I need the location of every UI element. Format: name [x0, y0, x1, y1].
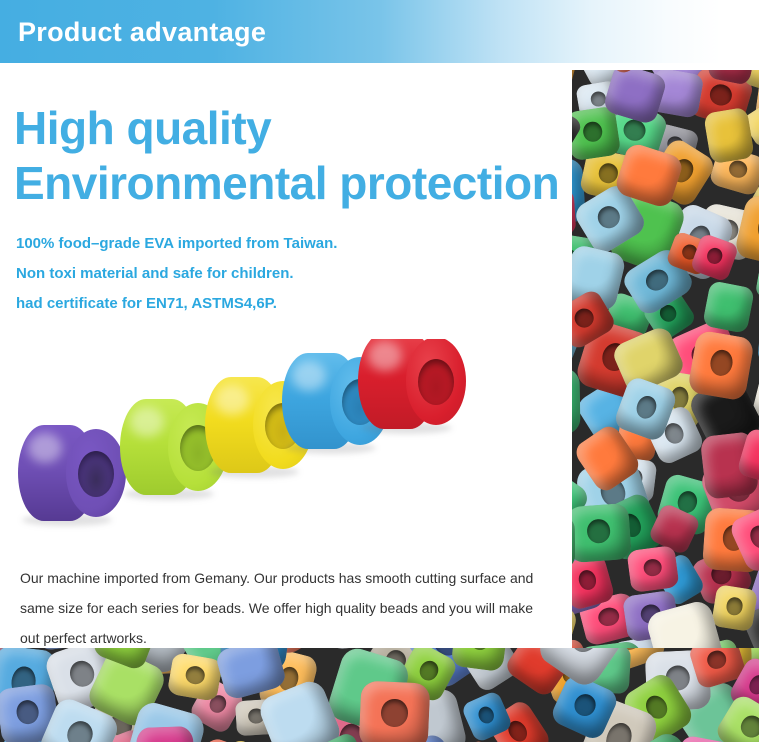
bead-gloss	[130, 407, 164, 437]
bead	[626, 545, 679, 593]
bead	[167, 652, 224, 702]
bead	[703, 107, 755, 165]
content-panel: High quality Environmental protection 10…	[0, 63, 572, 648]
feature-item: Non toxi material and safe for children.	[16, 259, 337, 289]
feature-item: 100% food–grade EVA imported from Taiwan…	[16, 229, 337, 259]
feature-list: 100% food–grade EVA imported from Taiwan…	[16, 229, 337, 319]
page-title: Product advantage	[18, 17, 266, 48]
description-paragraph: Our machine imported from Gemany. Our pr…	[20, 563, 550, 653]
bead-row-photo	[0, 339, 520, 539]
bead-gloss	[292, 361, 326, 391]
bead	[136, 726, 195, 742]
bead-gloss	[215, 385, 249, 415]
bead-hole	[78, 451, 114, 497]
headline: High quality Environmental protection	[14, 101, 559, 211]
bead	[572, 640, 584, 648]
bead	[711, 584, 758, 632]
header-bar: Product advantage	[0, 0, 759, 63]
bead	[572, 503, 632, 564]
feature-item: had certificate for EN71, ASTMS4,6P.	[16, 289, 337, 319]
purple-bead	[18, 425, 126, 521]
headline-line-1: High quality	[14, 101, 559, 156]
bead	[687, 329, 755, 401]
bead	[755, 255, 759, 303]
red-bead	[358, 339, 466, 429]
bead-gloss	[368, 341, 402, 371]
headline-line-2: Environmental protection	[14, 156, 559, 211]
bead	[572, 106, 621, 162]
bead	[702, 280, 755, 334]
bead-gloss	[28, 433, 62, 463]
bead	[358, 681, 430, 742]
bead-pile-photo-right	[572, 70, 759, 648]
bead-pile-photo-bottom	[0, 648, 759, 742]
bead-hole	[418, 359, 454, 405]
